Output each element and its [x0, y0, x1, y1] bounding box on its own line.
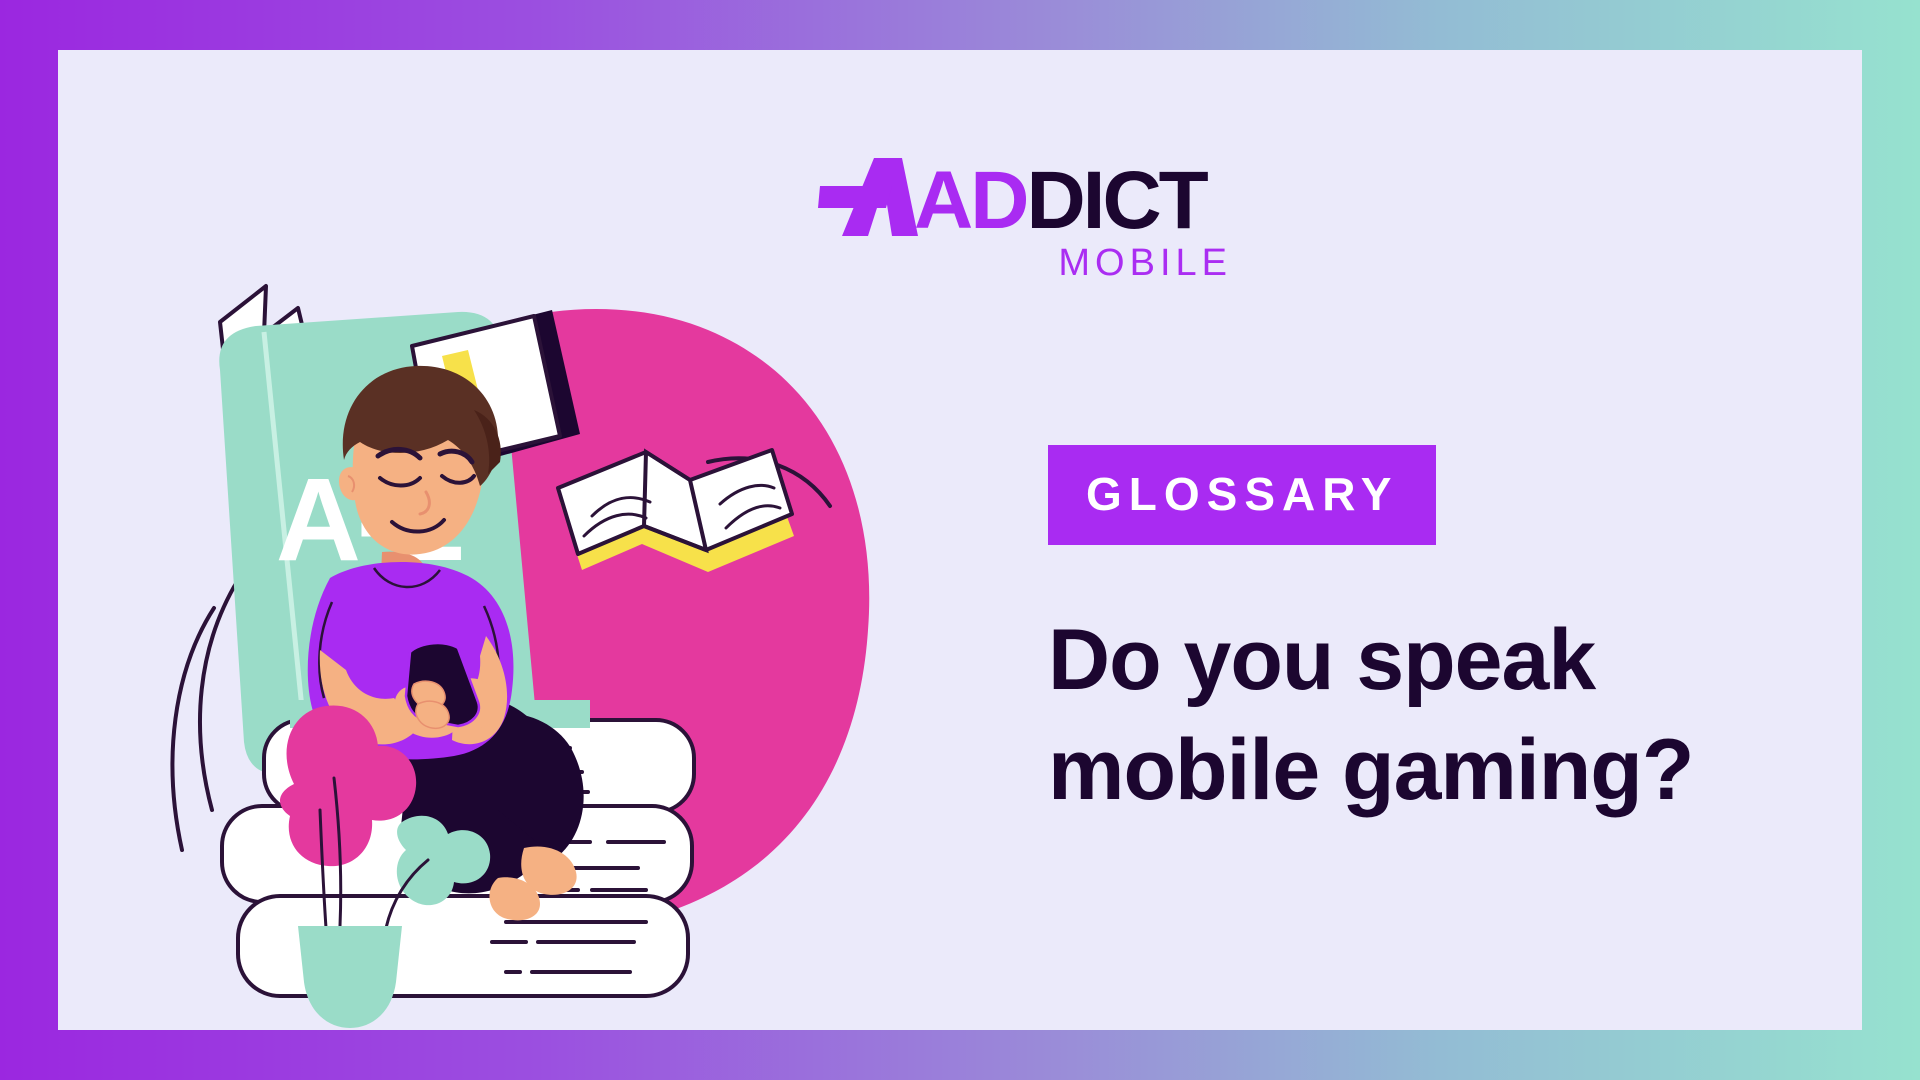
glossary-badge: GLOSSARY	[1048, 445, 1436, 545]
headline-line-1: Do you speak	[1048, 605, 1868, 715]
glossary-illustration: A-Z	[168, 250, 968, 1040]
logo-text-ad: AD	[914, 167, 1026, 236]
logo-subtitle: MOBILE	[818, 242, 1238, 285]
motion-arcs	[172, 580, 238, 850]
headline-line-2: mobile gaming?	[1048, 715, 1868, 825]
page-title: Do you speak mobile gaming?	[1048, 605, 1868, 825]
addict-a-mark-icon	[818, 158, 918, 236]
content-card: A-Z	[58, 50, 1862, 1030]
brand-logo: AD DICT MOBILE	[818, 158, 1238, 268]
logo-wordmark: AD DICT	[818, 158, 1238, 236]
text-column: GLOSSARY Do you speak mobile gaming?	[1048, 445, 1868, 825]
logo-text-dict: DICT	[1026, 167, 1205, 236]
